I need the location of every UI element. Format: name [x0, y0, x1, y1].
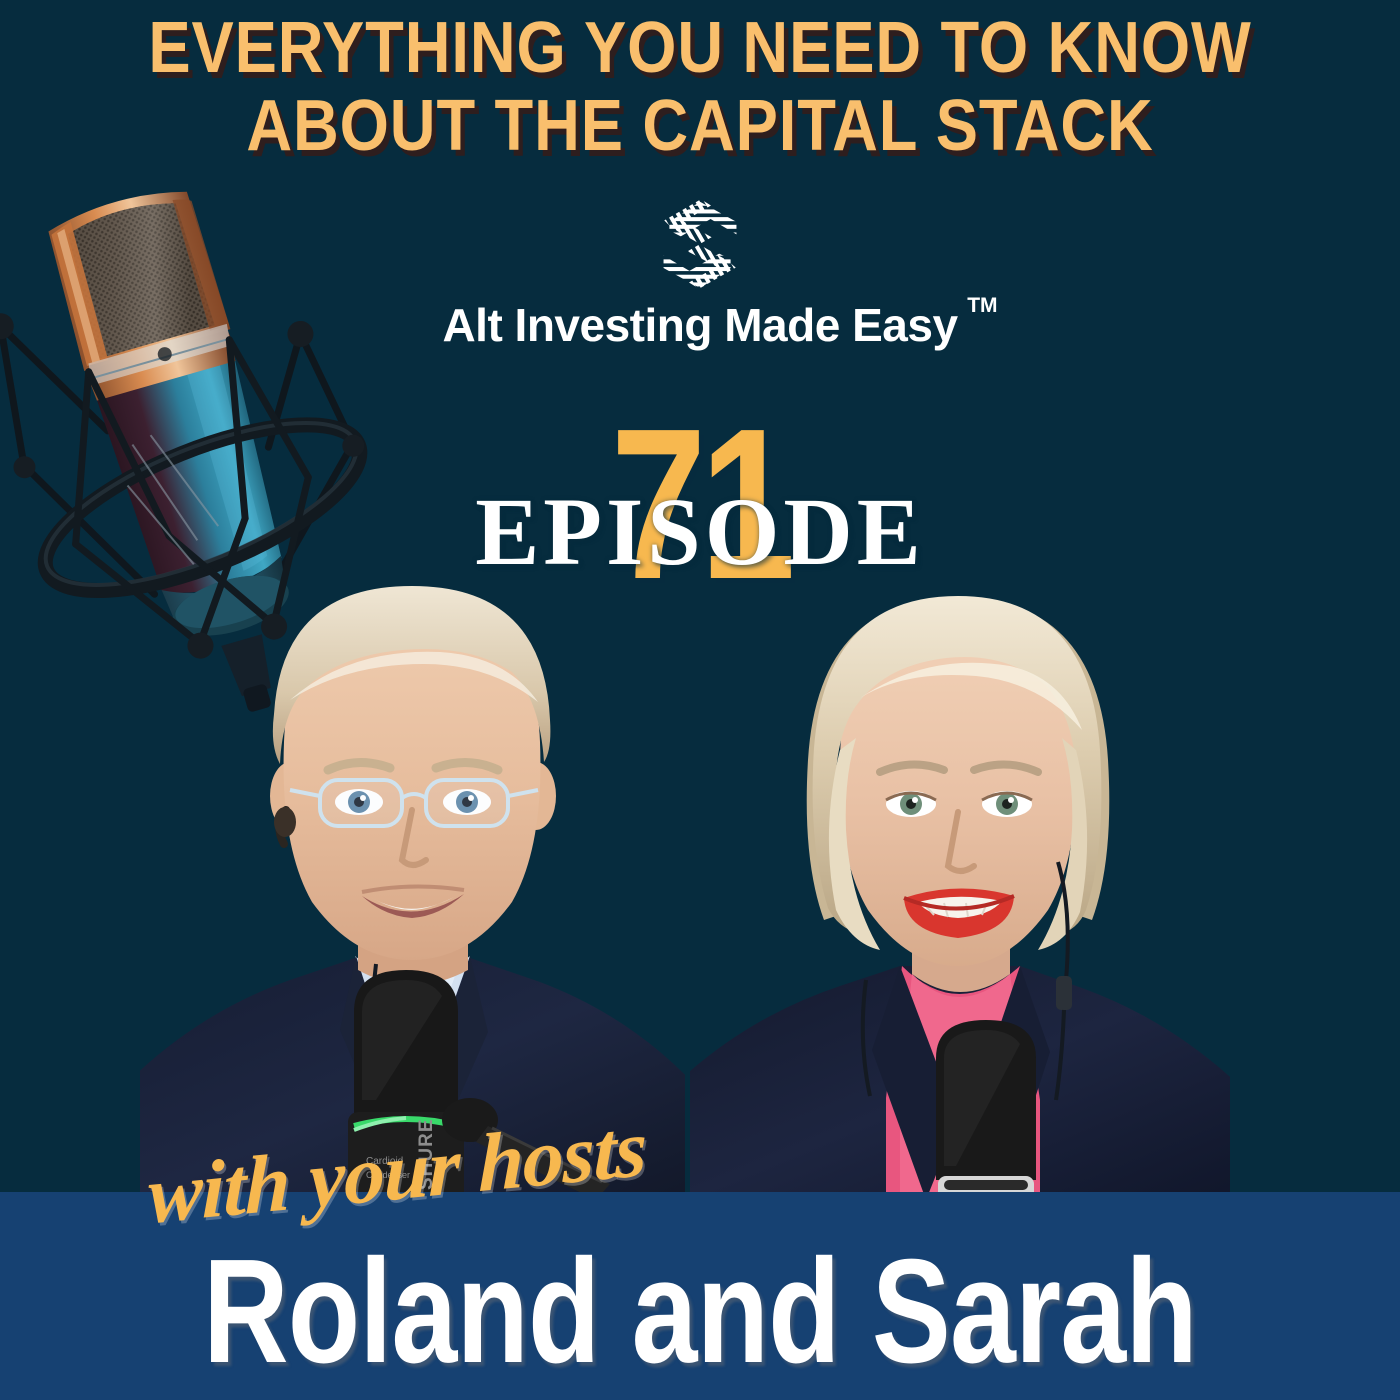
brand-block: Alt Investing Made EasyTM — [0, 196, 1400, 352]
title-line-2: ABOUT THE CAPITAL STACK — [84, 92, 1316, 160]
trademark-symbol: TM — [967, 294, 997, 318]
episode-number-block: 71 EPISODE — [0, 396, 1400, 646]
episode-title: EVERYTHING YOU NEED TO KNOW ABOUT THE CA… — [0, 14, 1400, 161]
brand-name-wrapper: Alt Investing Made EasyTM — [442, 298, 957, 352]
title-line-1: EVERYTHING YOU NEED TO KNOW — [84, 14, 1316, 82]
podcast-cover-art: EVERYTHING YOU NEED TO KNOW ABOUT THE CA… — [0, 0, 1400, 1400]
hosts-names: Roland and Sarah — [140, 1238, 1260, 1386]
episode-word: EPISODE — [0, 484, 1400, 580]
brand-name: Alt Investing Made Easy — [442, 299, 957, 351]
host-photo-sarah — [690, 580, 1230, 1200]
hexagon-pinwheel-logo-icon — [652, 196, 748, 292]
